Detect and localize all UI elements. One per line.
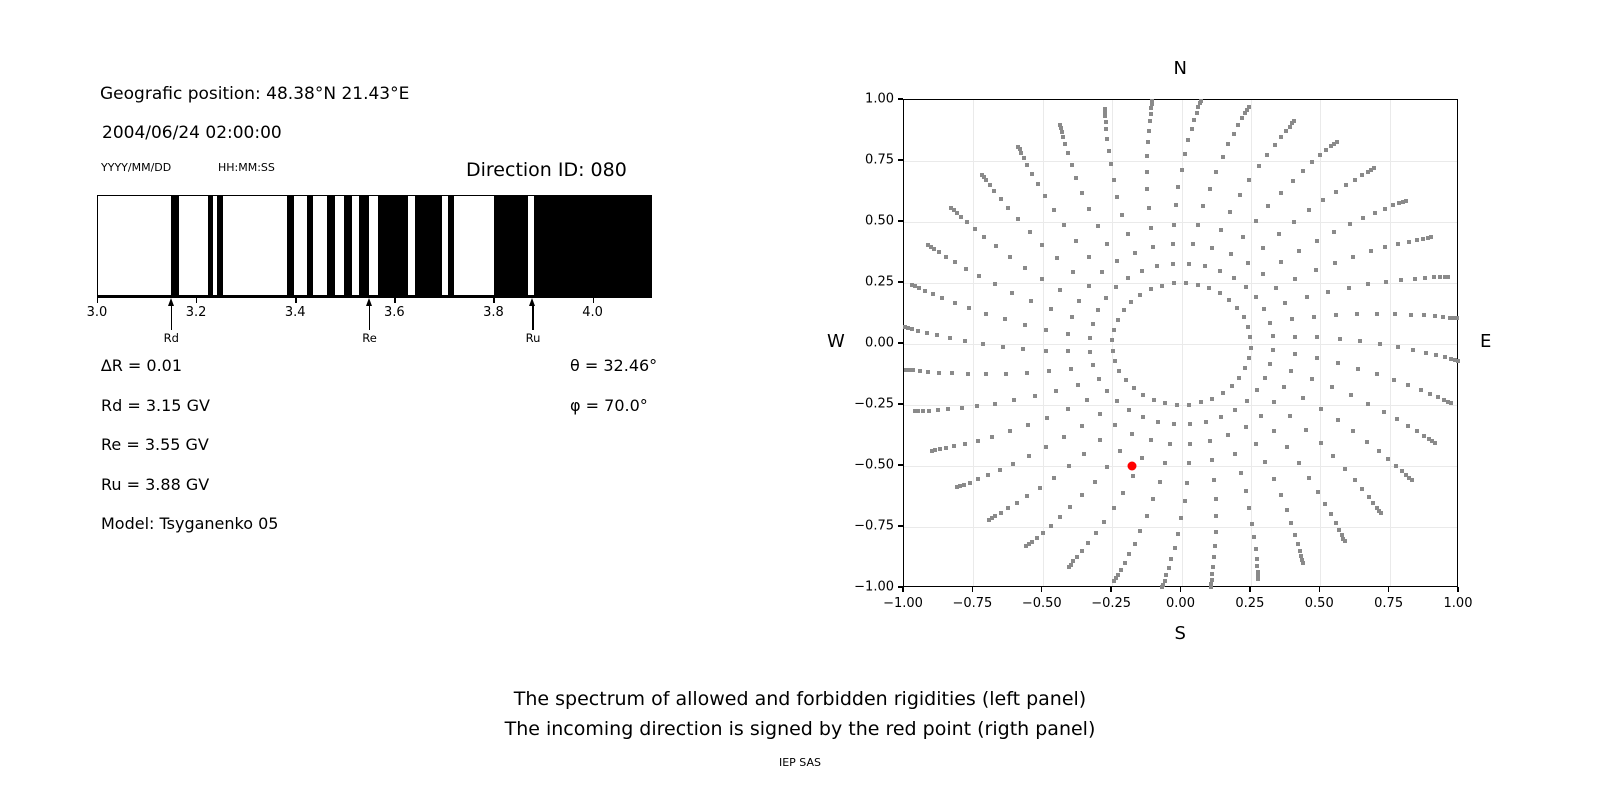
x-axis-tick [1249, 587, 1250, 592]
caption-line-2: The incoming direction is signed by the … [0, 718, 1600, 740]
forbidden-band [327, 196, 335, 295]
x-axis-tick [1180, 587, 1181, 592]
x-axis-tick-label: 1.00 [1444, 596, 1473, 611]
forbidden-band [359, 196, 368, 295]
compass-east-label: E [1480, 331, 1491, 352]
x-axis-tick [1457, 587, 1458, 592]
x-axis-tick-label: −0.25 [1091, 596, 1131, 611]
x-axis-tick-label: −0.75 [952, 596, 992, 611]
forbidden-band [378, 196, 408, 295]
x-axis-tick-label: −1.00 [883, 596, 923, 611]
compass-north-label: N [1174, 58, 1187, 79]
marker-label-ru: Ru [526, 331, 541, 345]
parameter-item: Rd = 3.15 GV [101, 396, 210, 415]
footer-credit: IEP SAS [0, 756, 1600, 769]
x-axis-tick [1041, 587, 1042, 592]
x-axis-tick [902, 587, 903, 592]
compass-south-label: S [1175, 623, 1186, 644]
forbidden-band [307, 196, 313, 295]
marker-label-re: Re [362, 331, 377, 345]
caption-line-1: The spectrum of allowed and forbidden ri… [0, 688, 1600, 710]
parameter-item: Model: Tsyganenko 05 [101, 514, 278, 533]
parameter-item: Re = 3.55 GV [101, 435, 209, 454]
forbidden-band [171, 196, 178, 295]
x-axis-ticks: −1.00−0.75−0.50−0.250.000.250.500.751.00 [800, 0, 1600, 800]
rigidity-spectrum-barcode [97, 195, 652, 296]
parameter-item: ∆R = 0.01 [101, 356, 182, 375]
rigidity-marker-group: RdReRu [97, 298, 652, 358]
asymptotic-direction-panel: −1.00−0.75−0.50−0.250.000.250.500.751.00… [800, 0, 1600, 800]
x-axis-tick-label: 0.75 [1374, 596, 1403, 611]
x-axis-tick-label: 0.25 [1235, 596, 1264, 611]
forbidden-band [217, 196, 222, 295]
rigidity-spectrum-panel: Geografic position: 48.38°N 21.43°E 2004… [0, 0, 800, 800]
forbidden-band [208, 196, 213, 295]
x-axis-tick-label: 0.50 [1305, 596, 1334, 611]
compass-west-label: W [827, 331, 845, 352]
x-axis-tick-label: 0.00 [1166, 596, 1195, 611]
x-axis-tick [1319, 587, 1320, 592]
date-format-hint: YYYY/MM/DD [101, 161, 171, 174]
marker-label-rd: Rd [164, 331, 179, 345]
direction-id-label: Direction ID: 080 [466, 159, 627, 181]
parameter-item: φ = 70.0° [570, 396, 648, 415]
forbidden-band [494, 196, 528, 295]
forbidden-band [287, 196, 294, 295]
forbidden-band [415, 196, 442, 295]
x-axis-tick [1388, 587, 1389, 592]
time-format-hint: HH:MM:SS [218, 161, 275, 174]
geographic-position-label: Geografic position: 48.38°N 21.43°E [100, 84, 409, 104]
x-axis-tick [972, 587, 973, 592]
parameter-item: Ru = 3.88 GV [101, 475, 209, 494]
forbidden-band [448, 196, 453, 295]
forbidden-band [344, 196, 351, 295]
datetime-label: 2004/06/24 02:00:00 [102, 123, 282, 143]
x-axis-tick [1110, 587, 1111, 592]
x-axis-tick-label: −0.50 [1022, 596, 1062, 611]
parameter-item: θ = 32.46° [570, 356, 657, 375]
forbidden-band [534, 196, 652, 295]
